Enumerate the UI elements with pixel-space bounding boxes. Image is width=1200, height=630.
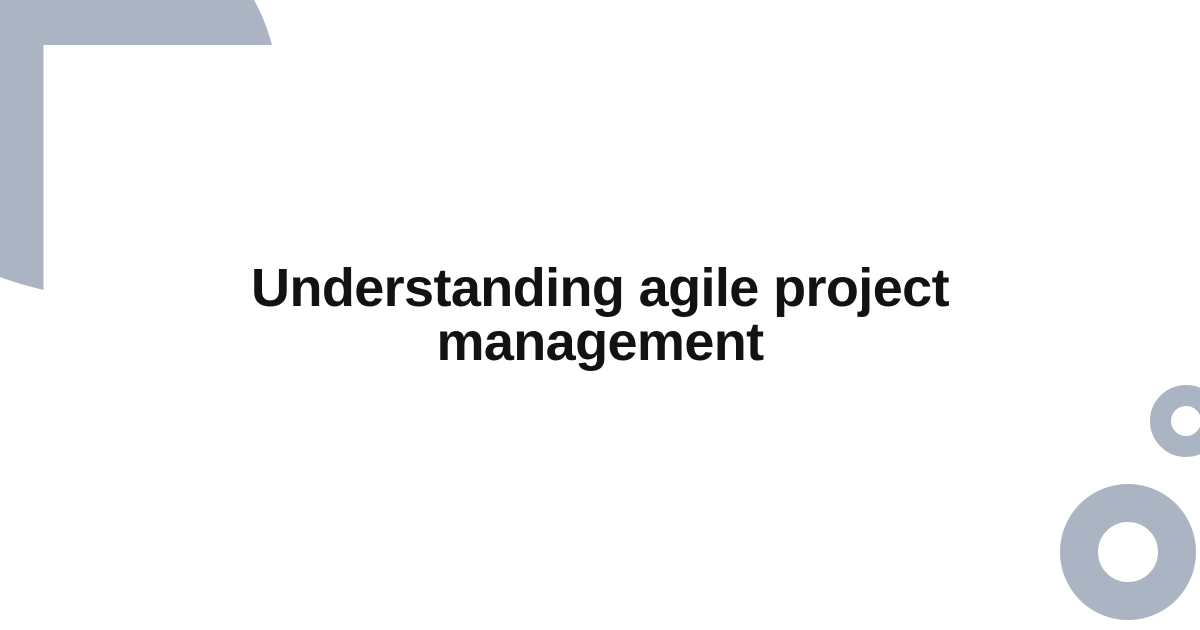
social-share-card: Understanding agile project management (0, 0, 1200, 630)
page-title: Understanding agile project management (230, 261, 970, 369)
title-container: Understanding agile project management (0, 0, 1200, 630)
